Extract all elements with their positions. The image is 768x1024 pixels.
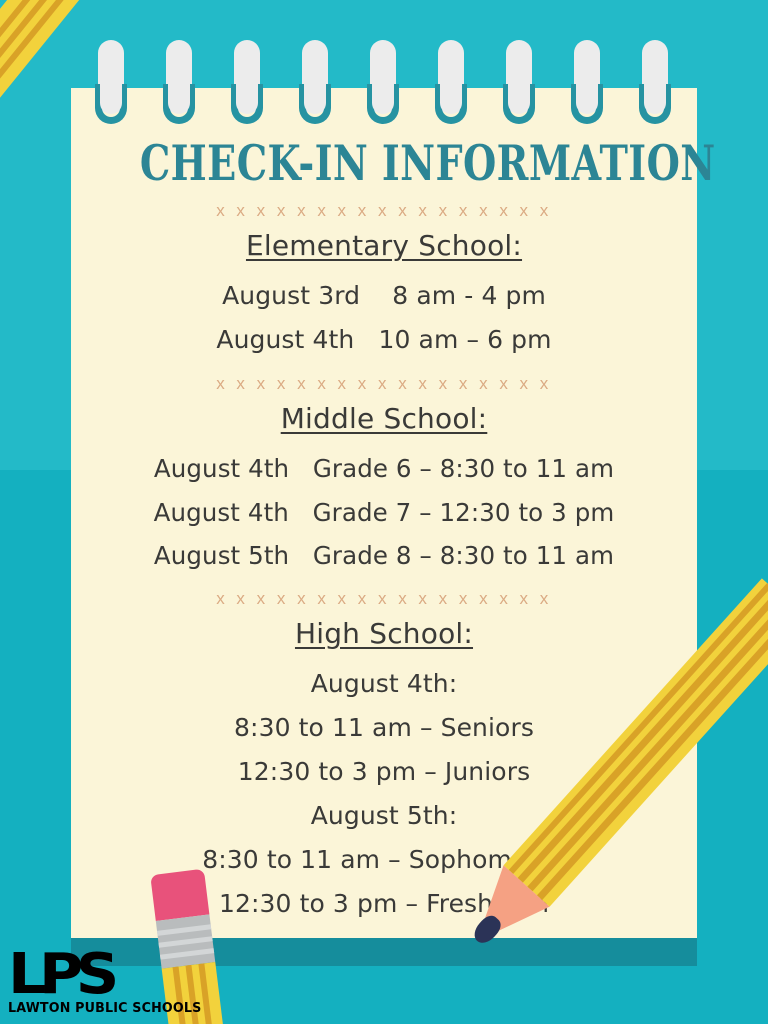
spiral-ring-wire-front bbox=[168, 76, 190, 114]
section-heading-elementary: Elementary School: bbox=[71, 229, 697, 262]
schedule-row: August 4th Grade 7 – 12:30 to 3 pm bbox=[71, 491, 697, 534]
spiral-ring-wire-front bbox=[236, 76, 258, 114]
spiral-ring-wire-front bbox=[304, 76, 326, 114]
section-middle: Middle School: August 4th Grade 6 – 8:30… bbox=[71, 402, 697, 576]
spiral-ring-wire-front bbox=[440, 76, 462, 114]
pencil-eraser bbox=[150, 869, 209, 921]
spiral-ring bbox=[302, 40, 328, 128]
schedule-row: August 4th: bbox=[71, 662, 697, 706]
spiral-ring bbox=[166, 40, 192, 128]
poster-canvas: CHECK-IN INFORMATION x x x x x x x x x x… bbox=[0, 0, 768, 1024]
schedule-row: August 4th 10 am – 6 pm bbox=[71, 318, 697, 362]
section-heading-middle: Middle School: bbox=[71, 402, 697, 435]
spiral-ring bbox=[506, 40, 532, 128]
lps-wordmark: LPS bbox=[8, 952, 213, 998]
spiral-ring-wire-front bbox=[100, 76, 122, 114]
page-title: CHECK-IN INFORMATION bbox=[140, 138, 628, 189]
spiral-ring-wire-front bbox=[508, 76, 530, 114]
lps-subtitle: LAWTON PUBLIC SCHOOLS bbox=[8, 1000, 187, 1016]
schedule-row: August 4th Grade 6 – 8:30 to 11 am bbox=[71, 447, 697, 490]
section-heading-high: High School: bbox=[71, 617, 697, 650]
spiral-ring bbox=[438, 40, 464, 128]
section-elementary: Elementary School: August 3rd 8 am - 4 p… bbox=[71, 229, 697, 362]
spiral-ring bbox=[234, 40, 260, 128]
spiral-ring bbox=[98, 40, 124, 128]
spiral-ring-wire-front bbox=[372, 76, 394, 114]
divider-2: x x x x x x x x x x x x x x x x x bbox=[71, 375, 697, 392]
spiral-ring bbox=[642, 40, 668, 128]
spiral-ring-wire-front bbox=[644, 76, 666, 114]
spiral-ring bbox=[574, 40, 600, 128]
lps-logo: LPS LAWTON PUBLIC SCHOOLS bbox=[8, 952, 198, 1020]
schedule-row: 8:30 to 11 am – Seniors bbox=[71, 706, 697, 750]
spiral-ring bbox=[370, 40, 396, 128]
spiral-ring-wire-front bbox=[576, 76, 598, 114]
divider-3: x x x x x x x x x x x x x x x x x bbox=[71, 590, 697, 607]
schedule-row: August 3rd 8 am - 4 pm bbox=[71, 274, 697, 318]
schedule-row: August 5th Grade 8 – 8:30 to 11 am bbox=[71, 534, 697, 577]
divider-1: x x x x x x x x x x x x x x x x x bbox=[71, 202, 697, 219]
